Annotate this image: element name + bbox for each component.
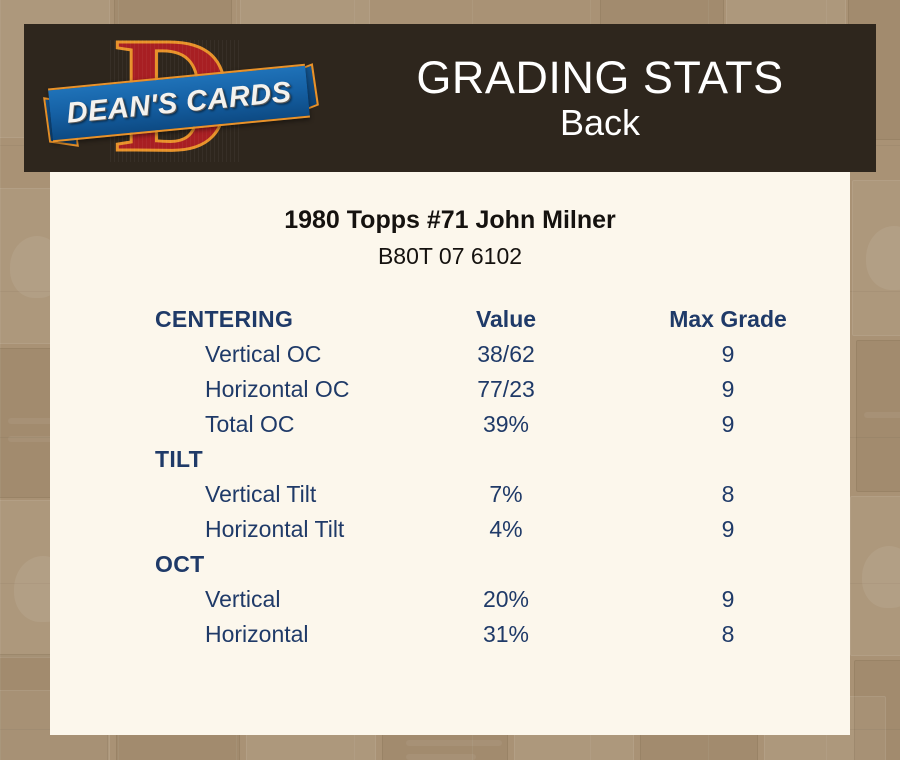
row-max-grade: 9 — [606, 582, 850, 617]
header-bar: D DEAN'S CARDS GRADING STATS Back — [24, 24, 876, 172]
section-title: TILT — [50, 442, 406, 477]
row-value: 31% — [406, 617, 606, 652]
table-header-row: CENTERING Value Max Grade — [50, 302, 850, 337]
header-title-block: GRADING STATS Back — [324, 24, 876, 172]
section-spacer-grade — [606, 547, 850, 582]
row-max-grade: 8 — [606, 477, 850, 512]
row-label: Vertical — [50, 582, 406, 617]
column-header-value: Value — [406, 302, 606, 337]
table-body: Vertical OC 38/62 9 Horizontal OC 77/23 … — [50, 337, 850, 652]
page-title: GRADING STATS — [416, 54, 783, 101]
section-spacer-grade — [606, 442, 850, 477]
table-head: CENTERING Value Max Grade — [50, 302, 850, 337]
row-label: Horizontal OC — [50, 372, 406, 407]
row-max-grade: 9 — [606, 372, 850, 407]
row-max-grade: 9 — [606, 337, 850, 372]
row-value: 77/23 — [406, 372, 606, 407]
row-label: Vertical OC — [50, 337, 406, 372]
row-value: 4% — [406, 512, 606, 547]
table-row: Horizontal 31% 8 — [50, 617, 850, 652]
grading-stats-table: CENTERING Value Max Grade Vertical OC 38… — [50, 302, 850, 652]
card-title: 1980 Topps #71 John Milner — [50, 206, 850, 235]
deans-cards-logo[interactable]: D DEAN'S CARDS — [50, 30, 310, 170]
row-value: 7% — [406, 477, 606, 512]
row-value: 20% — [406, 582, 606, 617]
row-value: 39% — [406, 407, 606, 442]
section-spacer-value — [406, 547, 606, 582]
content-panel: 1980 Topps #71 John Milner B80T 07 6102 … — [50, 172, 850, 735]
row-label: Horizontal Tilt — [50, 512, 406, 547]
row-label: Horizontal — [50, 617, 406, 652]
table-row: Total OC 39% 9 — [50, 407, 850, 442]
column-header-section: CENTERING — [50, 302, 406, 337]
row-label: Vertical Tilt — [50, 477, 406, 512]
row-max-grade: 8 — [606, 617, 850, 652]
card-subtitle: B80T 07 6102 — [50, 243, 850, 270]
section-title: OCT — [50, 547, 406, 582]
logo-banner-text: DEAN'S CARDS — [65, 76, 293, 130]
page-root: D DEAN'S CARDS GRADING STATS Back 1980 T… — [0, 0, 900, 760]
table-row: Horizontal OC 77/23 9 — [50, 372, 850, 407]
row-max-grade: 9 — [606, 407, 850, 442]
page-subtitle: Back — [560, 103, 640, 143]
row-label: Total OC — [50, 407, 406, 442]
section-spacer-value — [406, 442, 606, 477]
table-row: Vertical Tilt 7% 8 — [50, 477, 850, 512]
table-row: Horizontal Tilt 4% 9 — [50, 512, 850, 547]
column-header-max-grade: Max Grade — [606, 302, 850, 337]
section-header-row: TILT — [50, 442, 850, 477]
row-value: 38/62 — [406, 337, 606, 372]
section-header-row: OCT — [50, 547, 850, 582]
row-max-grade: 9 — [606, 512, 850, 547]
table-row: Vertical OC 38/62 9 — [50, 337, 850, 372]
table-row: Vertical 20% 9 — [50, 582, 850, 617]
